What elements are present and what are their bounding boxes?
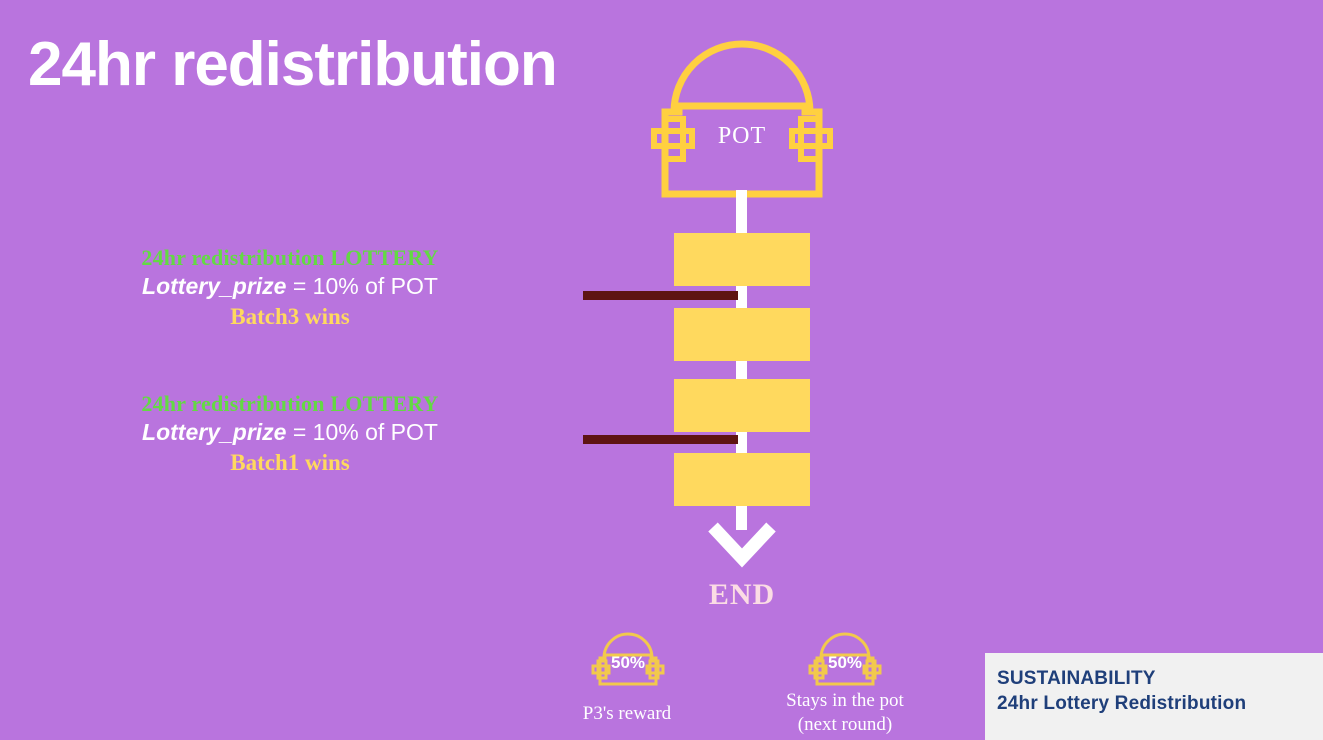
- pot-icon: [648, 8, 836, 194]
- bucket-caption: P3's reward: [507, 702, 747, 726]
- prize-variable: Lottery_prize: [142, 419, 286, 445]
- prize-formula: Lottery_prize = 10% of POT: [0, 417, 580, 448]
- footer-subtitle: 24hr Lottery Redistribution: [997, 692, 1323, 717]
- connector-line: [583, 435, 738, 444]
- end-label: END: [642, 578, 842, 612]
- down-arrow-icon: [708, 522, 776, 570]
- winner-label: Batch3 wins: [0, 302, 580, 332]
- flow-step-1: 24hr redistribution LOTTERY Lottery_priz…: [0, 245, 580, 332]
- flow-block: [674, 308, 810, 361]
- pot-label: POT: [648, 123, 836, 150]
- prize-formula: Lottery_prize = 10% of POT: [0, 271, 580, 302]
- bucket-percent: 50%: [808, 653, 882, 673]
- connector-line: [583, 291, 738, 300]
- prize-value: = 10% of POT: [293, 273, 438, 299]
- bucket-caption-line1: Stays in the pot: [725, 689, 965, 713]
- bucket-caption-line2: (next round): [725, 713, 965, 737]
- bucket-percent: 50%: [591, 653, 665, 673]
- slide-canvas: 24hr redistribution POT 24hr redistribut…: [0, 0, 1323, 740]
- lottery-label: 24hr redistribution LOTTERY: [0, 245, 580, 271]
- page-title: 24hr redistribution: [28, 34, 557, 96]
- bucket-caption: Stays in the pot (next round): [725, 689, 965, 737]
- footer-category: SUSTAINABILITY: [997, 667, 1323, 692]
- flow-block: [674, 453, 810, 506]
- winner-label: Batch1 wins: [0, 448, 580, 478]
- prize-variable: Lottery_prize: [142, 273, 286, 299]
- flow-block: [674, 233, 810, 286]
- footer-badge: SUSTAINABILITY 24hr Lottery Redistributi…: [985, 653, 1323, 740]
- flow-block: [674, 379, 810, 432]
- lottery-label: 24hr redistribution LOTTERY: [0, 391, 580, 417]
- prize-value: = 10% of POT: [293, 419, 438, 445]
- flow-step-2: 24hr redistribution LOTTERY Lottery_priz…: [0, 391, 580, 478]
